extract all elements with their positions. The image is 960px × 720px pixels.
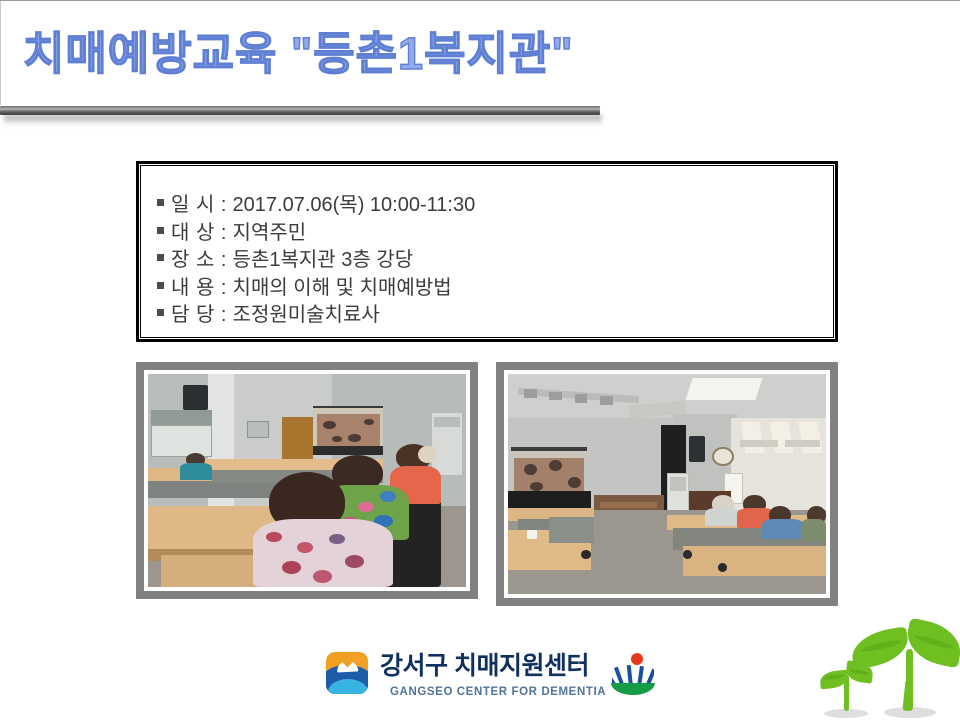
photo-inner-border	[144, 370, 470, 591]
dementia-center-mark-icon	[326, 652, 368, 694]
photo-image-classroom-close	[148, 374, 466, 587]
list-item-label: 담 당 :	[171, 302, 227, 330]
district-hill-shape	[611, 683, 655, 695]
title-divider	[0, 106, 600, 115]
gangseo-district-mark-icon	[609, 651, 657, 697]
district-sun-shape	[631, 653, 643, 665]
event-details-list: 일 시 : 2017.07.06(목) 10:00-11:30 대 상 : 지역…	[139, 164, 835, 330]
logo-english-name: GANGSEO CENTER FOR DEMENTIA	[390, 685, 606, 699]
list-item: 내 용 : 치매의 이해 및 치매예방법	[157, 275, 835, 303]
page-title: 치매예방교육 "등촌1복지관"	[23, 25, 574, 83]
sprout-decoration	[818, 617, 960, 720]
square-bullet-icon	[157, 309, 164, 316]
list-item-value: 치매의 이해 및 치매예방법	[233, 275, 452, 303]
photo-image-classroom-wide	[508, 374, 826, 594]
list-item: 대 상 : 지역주민	[157, 220, 835, 248]
list-item-label: 대 상 :	[171, 220, 227, 248]
list-item-label: 일 시 :	[171, 192, 227, 220]
photo-inner-border	[504, 370, 830, 598]
list-item-label: 내 용 :	[171, 275, 227, 303]
footer-logo: 강서구 치매지원센터 GANGSEO CENTER FOR DEMENTIA	[326, 649, 664, 705]
list-item-value: 지역주민	[233, 220, 307, 248]
list-item: 담 당 : 조정원미술치료사	[157, 302, 835, 330]
square-bullet-icon	[157, 227, 164, 234]
title-area: 치매예방교육 "등촌1복지관"	[0, 1, 604, 105]
square-bullet-icon	[157, 282, 164, 289]
title-divider-shadow	[4, 115, 602, 125]
square-bullet-icon	[157, 199, 164, 206]
list-item-value: 조정원미술치료사	[233, 302, 380, 330]
photo-frame-classroom-close	[136, 362, 478, 599]
list-item: 장 소 : 등촌1복지관 3층 강당	[157, 247, 835, 275]
photo-frame-classroom-wide	[496, 362, 838, 606]
square-bullet-icon	[157, 254, 164, 261]
presentation-slide: 치매예방교육 "등촌1복지관" 일 시 : 2017.07.06(목) 10:0…	[0, 0, 960, 720]
list-item-value: 2017.07.06(목) 10:00-11:30	[233, 192, 476, 220]
list-item-label: 장 소 :	[171, 247, 227, 275]
list-item-value: 등촌1복지관 3층 강당	[233, 247, 414, 275]
event-details-box: 일 시 : 2017.07.06(목) 10:00-11:30 대 상 : 지역…	[136, 161, 838, 342]
logo-korean-name: 강서구 치매지원센터	[380, 649, 589, 683]
list-item: 일 시 : 2017.07.06(목) 10:00-11:30	[157, 192, 835, 220]
